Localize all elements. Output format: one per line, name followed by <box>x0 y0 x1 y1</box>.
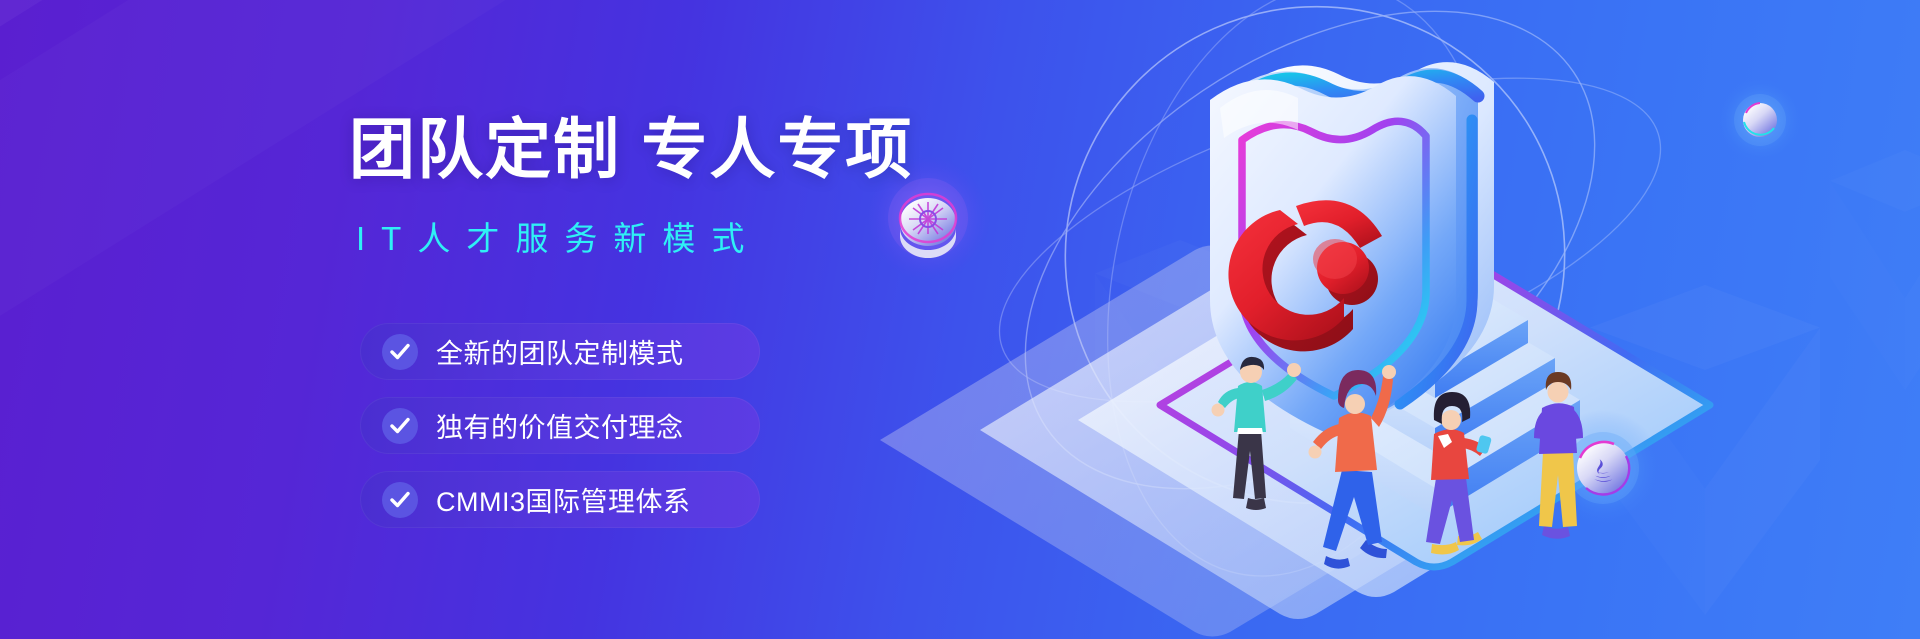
feature-list: 全新的团队定制模式 独有的价值交付理念 CMMI3国际管理体系 <box>360 323 760 545</box>
feature-label: 全新的团队定制模式 <box>436 332 684 371</box>
feature-pill-3[interactable]: CMMI3国际管理体系 <box>360 471 760 528</box>
hero-illustration <box>860 0 1920 639</box>
feature-pill-1[interactable]: 全新的团队定制模式 <box>360 323 760 380</box>
check-icon <box>382 482 418 518</box>
banner-title: 团队定制 专人专项 <box>349 116 913 182</box>
banner-subtitle: IT人才服务新模式 <box>356 222 760 255</box>
check-icon <box>382 334 418 370</box>
feature-label: CMMI3国际管理体系 <box>436 480 691 519</box>
check-icon <box>382 408 418 444</box>
promo-banner: 团队定制 专人专项 IT人才服务新模式 全新的团队定制模式 独有的价值交付理念 <box>0 0 1920 639</box>
feature-label: 独有的价值交付理念 <box>436 406 684 445</box>
feature-pill-2[interactable]: 独有的价值交付理念 <box>360 397 760 454</box>
banner-content: 团队定制 专人专项 IT人才服务新模式 全新的团队定制模式 独有的价值交付理念 <box>0 0 960 639</box>
